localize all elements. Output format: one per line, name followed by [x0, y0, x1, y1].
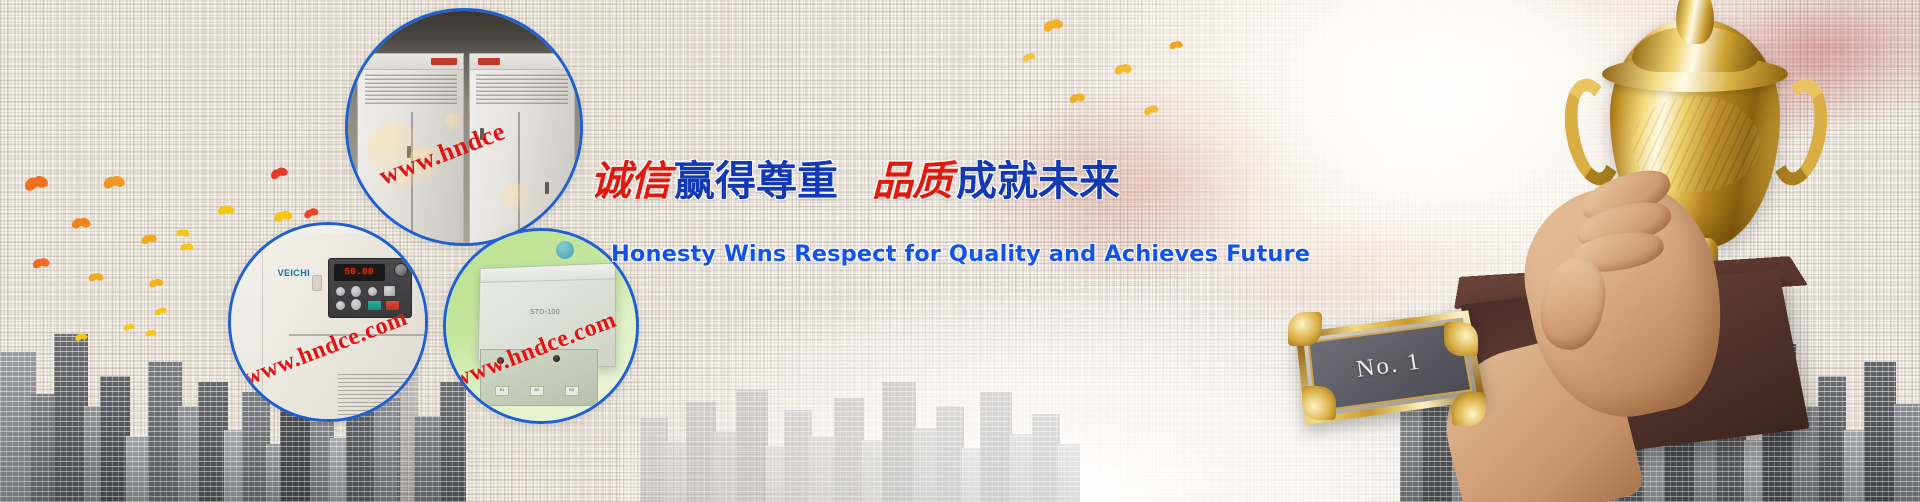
headline-part2-blue: 成就未来: [956, 161, 1120, 202]
cabinet-scene: [348, 11, 580, 243]
trophy-illustration: [1280, 0, 1920, 502]
product-photo-control-box[interactable]: STD-100 B1 B2 B3 www.hndce.com: [443, 228, 639, 424]
bird-icon: [88, 273, 104, 282]
inverter-set-key[interactable]: [335, 300, 346, 311]
headline-slogan: 诚信 赢得尊重 品质 成就未来: [590, 161, 1120, 202]
inverter-menu-key[interactable]: [335, 286, 346, 297]
blue-badge-icon: [556, 241, 574, 259]
inverter-potentiometer-knob[interactable]: [394, 263, 408, 277]
inverter-aux-key[interactable]: [383, 285, 396, 297]
headline-part1-blue: 赢得尊重: [674, 161, 838, 202]
inverter-warning-text-block: [338, 372, 412, 415]
terminal-b3: B3: [565, 386, 579, 396]
terminal-b1: B1: [495, 386, 509, 396]
terminal-b2: B2: [530, 386, 544, 396]
subtitle-english: Honesty Wins Respect for Quality and Ach…: [611, 241, 1310, 267]
control-box-model-label: STD-100: [530, 309, 560, 316]
trophy-plaque-text: No. 1: [1355, 349, 1424, 384]
plaque-ornament-icon: [1288, 312, 1322, 346]
inverter-fwd-key[interactable]: [367, 300, 382, 311]
inverter-esc-key[interactable]: [367, 286, 378, 297]
bird-icon: [176, 229, 190, 236]
inverter-side-tab: [312, 275, 322, 291]
bird-icon: [102, 176, 125, 189]
inverter-display: 50.00: [334, 264, 385, 281]
plaque-ornament-icon: [1444, 322, 1478, 356]
inverter-up-key[interactable]: [350, 285, 362, 298]
headline-part1-red: 诚信: [590, 161, 670, 202]
trophy-finial: [1676, 0, 1714, 44]
plaque-ornament-icon: [1452, 392, 1486, 426]
inverter-brand-label: VEICHI: [278, 268, 310, 278]
product-photo-inverter[interactable]: VEICHI 50.00 www.hndce.com: [228, 222, 428, 422]
plaque-ornament-icon: [1302, 386, 1336, 420]
bird-icon: [71, 218, 91, 228]
headline-part2-red: 品质: [872, 161, 952, 202]
promo-banner: www.hndce VEICHI 50.00: [0, 0, 1920, 502]
bird-icon: [180, 243, 194, 250]
product-photo-cabinets[interactable]: www.hndce: [345, 8, 583, 246]
inverter-down-key[interactable]: [350, 298, 362, 311]
bird-icon: [217, 205, 235, 215]
